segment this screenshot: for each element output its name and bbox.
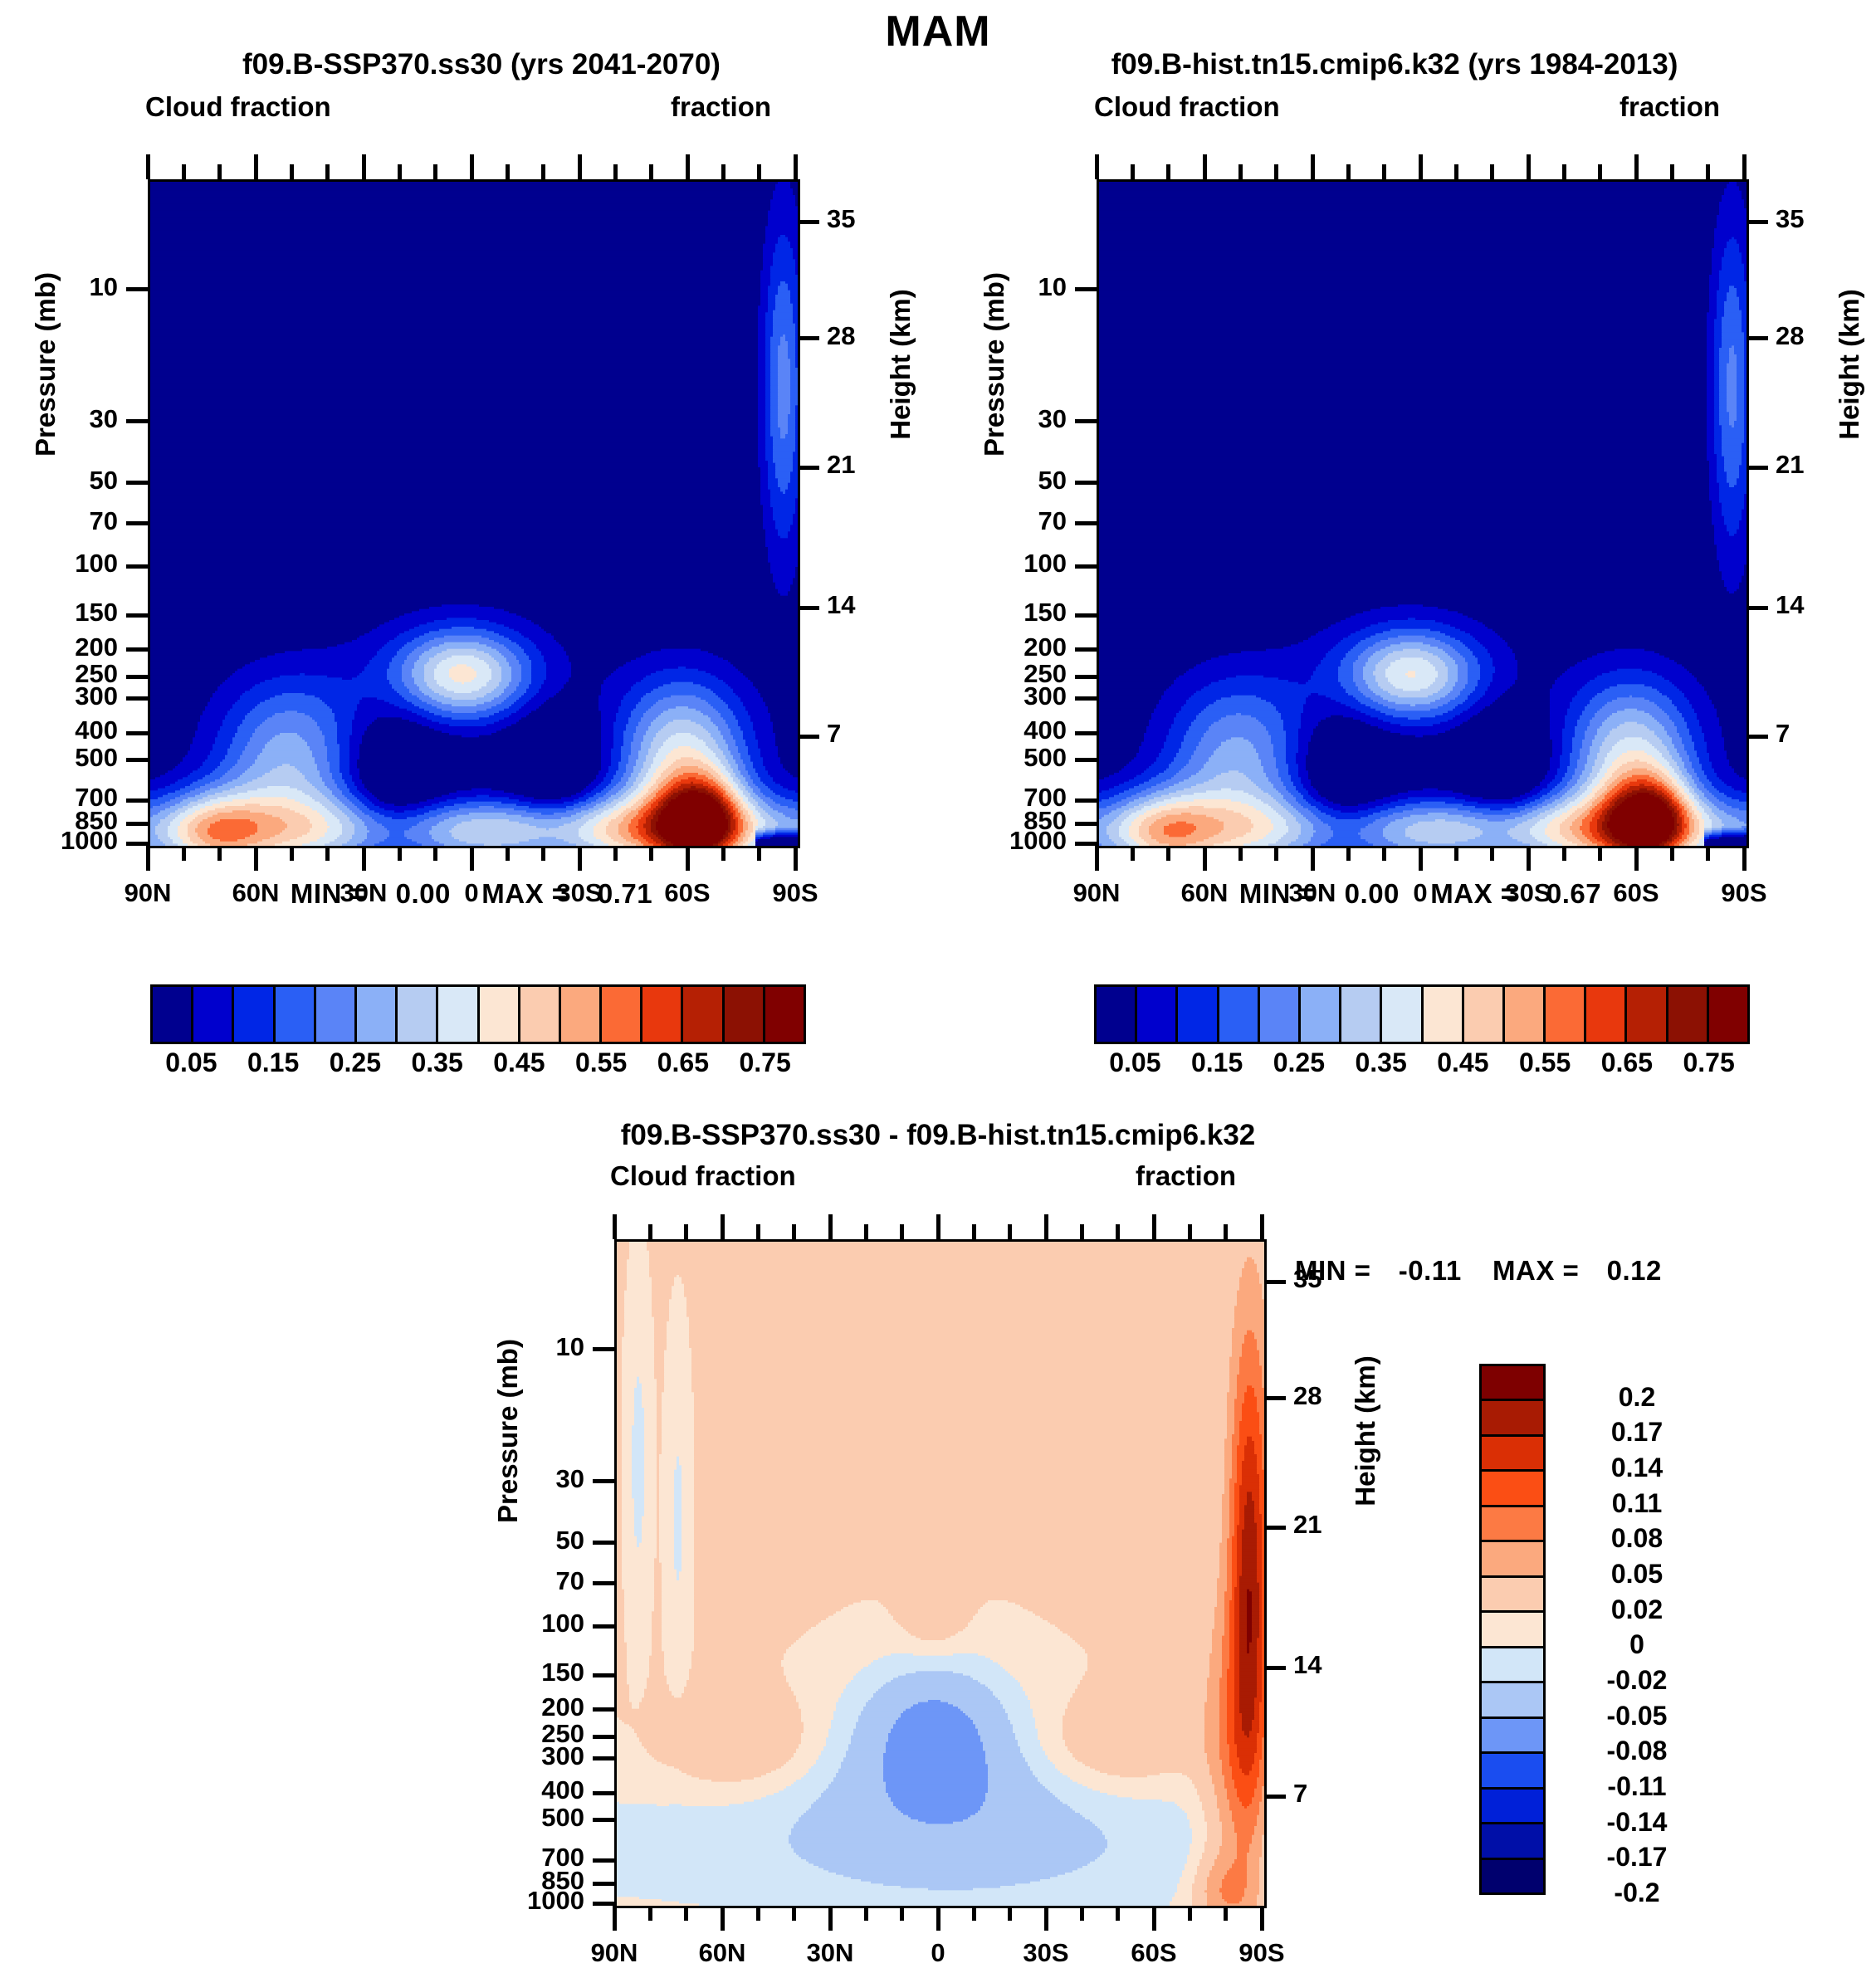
axis-tick: [1382, 164, 1386, 179]
axis-tick-label: 28: [827, 321, 901, 351]
axis-tick: [398, 164, 402, 179]
colorbar-tick-label: -0.17: [1554, 1842, 1720, 1873]
axis-tick: [126, 419, 148, 423]
axis-tick: [126, 842, 148, 846]
axis-tick: [613, 1906, 617, 1931]
axis-tick: [972, 1906, 976, 1921]
axis-tick: [686, 846, 690, 871]
axis-tick: [1075, 287, 1097, 291]
axis-tick: [1116, 1224, 1120, 1239]
colorbar-swatch: [1482, 1472, 1543, 1507]
colorbar-swatch: [398, 987, 438, 1042]
axis-tick: [794, 846, 798, 871]
axis-tick-label: 60N: [193, 878, 318, 908]
axis-tick: [126, 696, 148, 701]
colorbar-swatch: [642, 987, 683, 1042]
colorbar-tick-label: 0.2: [1554, 1382, 1720, 1413]
axis-tick: [1131, 846, 1135, 861]
colorbar-swatch: [234, 987, 275, 1042]
colorbar-swatch: [1482, 1366, 1543, 1401]
colorbar-swatch: [1301, 987, 1341, 1042]
axis-tick-label: 30N: [768, 1938, 892, 1968]
axis-tick: [1264, 1795, 1286, 1799]
panel-top-left-colorbar-labels: 0.050.150.250.350.450.550.650.75: [150, 1047, 806, 1086]
axis-tick: [649, 846, 653, 861]
axis-tick-label: 14: [1776, 590, 1850, 620]
axis-tick-label: 1000: [0, 826, 118, 856]
colorbar-swatch: [1482, 1824, 1543, 1859]
axis-tick-label: 7: [1293, 1779, 1368, 1809]
axis-tick-label: 14: [827, 590, 901, 620]
axis-tick: [1747, 336, 1768, 340]
axis-tick: [1152, 1214, 1156, 1239]
colorbar-tick-label: 0: [1554, 1629, 1720, 1660]
axis-tick: [1152, 1906, 1156, 1931]
panel-bottom-diff-title: f09.B-SSP370.ss30 - f09.B-hist.tn15.cmip…: [481, 1119, 1395, 1152]
colorbar-swatch: [1482, 1754, 1543, 1789]
axis-tick: [1527, 154, 1531, 179]
axis-tick-label: 30S: [1466, 878, 1590, 908]
axis-tick: [578, 846, 582, 871]
colorbar-swatch: [1260, 987, 1301, 1042]
axis-tick-label: 100: [0, 549, 118, 579]
colorbar-swatch: [1482, 1578, 1543, 1613]
axis-tick-label: 60N: [1142, 878, 1267, 908]
axis-tick-label: 14: [1293, 1650, 1368, 1680]
axis-tick: [1075, 842, 1097, 846]
axis-tick: [1527, 846, 1531, 871]
axis-tick: [613, 164, 618, 179]
axis-tick: [1116, 1906, 1120, 1921]
axis-tick-label: 30S: [517, 878, 642, 908]
colorbar-swatch: [438, 987, 479, 1042]
axis-tick-label: 10: [460, 1332, 584, 1362]
panel-top-right-title: f09.B-hist.tn15.cmip6.k32 (yrs 1984-2013…: [980, 48, 1810, 81]
colorbar-swatch: [520, 987, 561, 1042]
axis-tick: [182, 164, 186, 179]
colorbar-swatch: [765, 987, 804, 1042]
axis-tick: [126, 647, 148, 652]
colorbar-swatch: [1482, 1507, 1543, 1542]
axis-tick: [593, 1735, 614, 1739]
axis-tick-label: 90S: [1682, 878, 1806, 908]
colorbar-swatch: [316, 987, 357, 1042]
axis-tick: [1747, 466, 1768, 470]
axis-tick-label: 90S: [733, 878, 857, 908]
axis-tick: [1044, 1906, 1048, 1931]
axis-tick: [593, 1347, 614, 1351]
axis-tick: [864, 1906, 868, 1921]
colorbar-swatch: [725, 987, 765, 1042]
axis-tick-label: 500: [942, 743, 1067, 773]
axis-tick: [126, 613, 148, 618]
axis-tick: [1044, 1214, 1048, 1239]
axis-tick: [1260, 1906, 1264, 1931]
colorbar-swatch: [1482, 1790, 1543, 1824]
axis-tick: [721, 164, 725, 179]
colorbar-tick-label: 0.75: [707, 1047, 823, 1078]
panel-top-right-units-label: fraction: [1620, 91, 1720, 123]
axis-tick: [254, 846, 258, 871]
axis-tick-label: 30S: [984, 1938, 1108, 1968]
colorbar-swatch: [1586, 987, 1627, 1042]
axis-tick: [593, 1581, 614, 1585]
axis-tick: [1075, 696, 1097, 701]
colorbar-swatch: [683, 987, 724, 1042]
axis-tick: [1080, 1224, 1084, 1239]
colorbar-tick-label: 0.17: [1554, 1417, 1720, 1448]
axis-tick: [1311, 154, 1315, 179]
axis-tick-label: 90S: [1199, 1938, 1324, 1968]
colorbar-swatch: [1482, 1860, 1543, 1892]
axis-tick-label: 50: [0, 466, 118, 496]
axis-tick: [1454, 846, 1458, 861]
axis-tick-label: 0: [876, 1938, 1000, 1968]
axis-tick-label: 150: [0, 598, 118, 628]
axis-tick: [593, 1756, 614, 1760]
axis-tick: [470, 154, 474, 179]
axis-tick-label: 100: [942, 549, 1067, 579]
axis-tick-label: 35: [1776, 204, 1850, 234]
axis-tick-label: 60S: [625, 878, 750, 908]
axis-tick: [362, 154, 366, 179]
axis-tick: [217, 164, 222, 179]
axis-tick: [593, 1479, 614, 1483]
axis-tick: [433, 846, 437, 861]
axis-tick: [126, 675, 148, 679]
axis-tick: [1075, 798, 1097, 803]
axis-tick: [1490, 164, 1494, 179]
axis-tick-label: 400: [460, 1775, 584, 1805]
axis-tick-label: 100: [460, 1609, 584, 1638]
panel-bottom-diff-plot: [614, 1239, 1267, 1908]
panel-bottom-diff-max-value: 0.12: [1607, 1255, 1662, 1286]
axis-tick: [1747, 220, 1768, 224]
axis-tick: [1075, 731, 1097, 735]
panel-top-left-contour-field: [150, 182, 798, 846]
axis-tick-label: 7: [827, 719, 901, 749]
axis-tick: [864, 1224, 868, 1239]
axis-tick: [506, 164, 510, 179]
axis-tick: [593, 1902, 614, 1906]
axis-tick: [593, 1791, 614, 1795]
colorbar-swatch: [561, 987, 602, 1042]
axis-tick: [798, 220, 819, 224]
axis-tick: [1562, 846, 1566, 861]
axis-tick: [290, 846, 294, 861]
axis-tick: [1264, 1280, 1286, 1284]
colorbar-swatch: [153, 987, 193, 1042]
axis-tick: [1598, 846, 1602, 861]
axis-tick-label: 90N: [552, 1938, 677, 1968]
axis-tick: [756, 1906, 760, 1921]
colorbar-swatch: [1464, 987, 1505, 1042]
colorbar-tick-label: -0.2: [1554, 1878, 1720, 1908]
colorbar-swatch: [357, 987, 398, 1042]
axis-tick: [1075, 675, 1097, 679]
panel-top-right-variable-label: Cloud fraction: [1094, 91, 1280, 123]
axis-tick-label: 35: [827, 204, 901, 234]
axis-tick-label: 150: [942, 598, 1067, 628]
axis-tick: [1188, 1224, 1192, 1239]
axis-tick: [648, 1906, 652, 1921]
colorbar-tick-label: 0.02: [1554, 1594, 1720, 1625]
axis-tick: [721, 1906, 725, 1931]
axis-tick: [900, 1906, 904, 1921]
axis-tick: [362, 846, 366, 871]
axis-tick: [1346, 846, 1351, 861]
axis-tick: [593, 1673, 614, 1677]
axis-tick-label: 1000: [942, 826, 1067, 856]
axis-tick-label: 60S: [1092, 1938, 1216, 1968]
axis-tick: [1075, 521, 1097, 525]
axis-tick: [1166, 846, 1170, 861]
axis-tick-label: 30: [942, 404, 1067, 434]
axis-tick: [721, 1214, 725, 1239]
axis-tick: [1419, 846, 1423, 871]
axis-tick: [1419, 154, 1423, 179]
axis-tick: [798, 735, 819, 739]
panel-bottom-diff-units-label: fraction: [1136, 1160, 1236, 1192]
axis-tick: [541, 164, 545, 179]
axis-tick: [721, 846, 725, 861]
colorbar-swatch: [276, 987, 316, 1042]
axis-tick-label: 300: [942, 681, 1067, 711]
axis-tick: [613, 846, 618, 861]
axis-tick-label: 300: [460, 1741, 584, 1771]
panel-top-left-title: f09.B-SSP370.ss30 (yrs 2041-2070): [66, 48, 896, 81]
axis-tick: [1274, 846, 1278, 861]
axis-tick: [1454, 164, 1458, 179]
axis-tick: [126, 481, 148, 485]
axis-tick: [1203, 154, 1207, 179]
axis-tick-label: 200: [0, 632, 118, 662]
axis-tick: [1742, 154, 1747, 179]
axis-tick-label: 0: [409, 878, 534, 908]
axis-tick: [792, 1906, 796, 1921]
axis-tick: [1075, 613, 1097, 618]
colorbar-tick-label: 0.14: [1554, 1453, 1720, 1483]
axis-tick: [126, 287, 148, 291]
axis-tick: [217, 846, 222, 861]
axis-tick: [126, 822, 148, 826]
axis-tick-label: 7: [1776, 719, 1850, 749]
axis-tick-label: 60N: [660, 1938, 784, 1968]
axis-tick: [1670, 164, 1674, 179]
axis-tick: [1075, 822, 1097, 826]
axis-tick: [1311, 846, 1315, 871]
colorbar-swatch: [1424, 987, 1464, 1042]
colorbar-swatch: [1709, 987, 1747, 1042]
axis-tick: [126, 564, 148, 569]
colorbar-tick-label: 0.08: [1554, 1523, 1720, 1554]
axis-tick-label: 70: [460, 1566, 584, 1596]
axis-tick: [649, 164, 653, 179]
panel-bottom-diff-min-value: -0.11: [1399, 1255, 1462, 1286]
axis-tick: [506, 846, 510, 861]
colorbar-swatch: [1482, 1613, 1543, 1648]
axis-tick: [1742, 846, 1747, 871]
panel-top-right-plot: [1097, 179, 1749, 848]
colorbar-swatch: [1482, 1719, 1543, 1754]
axis-tick: [936, 1214, 940, 1239]
axis-tick: [398, 846, 402, 861]
axis-tick-label: 30: [0, 404, 118, 434]
axis-tick-label: 150: [460, 1658, 584, 1687]
axis-tick: [794, 154, 798, 179]
axis-tick: [470, 846, 474, 871]
panel-top-left-plot: [148, 179, 800, 848]
axis-tick: [900, 1224, 904, 1239]
colorbar-swatch: [1482, 1401, 1543, 1436]
axis-tick: [1008, 1224, 1012, 1239]
axis-tick: [828, 1214, 833, 1239]
axis-tick: [593, 1541, 614, 1545]
colorbar-tick-label: -0.11: [1554, 1771, 1720, 1802]
colorbar-tick-label: 0.05: [1554, 1559, 1720, 1590]
colorbar-swatch: [1097, 987, 1137, 1042]
axis-tick: [1562, 164, 1566, 179]
panel-bottom-diff-max-label: MAX =: [1492, 1255, 1579, 1286]
axis-tick: [1188, 1906, 1192, 1921]
axis-tick: [1080, 1906, 1084, 1921]
axis-tick: [325, 846, 330, 861]
axis-tick-label: 30N: [1250, 878, 1375, 908]
axis-tick-label: 21: [1776, 450, 1850, 480]
axis-tick: [1095, 846, 1099, 871]
axis-tick: [1075, 481, 1097, 485]
panel-bottom-diff-variable-label: Cloud fraction: [610, 1160, 796, 1192]
axis-tick: [684, 1224, 688, 1239]
axis-tick: [126, 521, 148, 525]
axis-tick: [1706, 846, 1710, 861]
axis-tick: [1264, 1526, 1286, 1530]
colorbar-swatch: [1668, 987, 1709, 1042]
axis-tick: [1008, 1906, 1012, 1921]
axis-tick-label: 21: [1293, 1510, 1368, 1540]
colorbar-swatch: [602, 987, 642, 1042]
axis-tick: [1634, 846, 1639, 871]
axis-tick-label: 10: [0, 272, 118, 302]
axis-tick-label: 90N: [1034, 878, 1159, 908]
axis-tick: [1075, 647, 1097, 652]
axis-tick: [541, 846, 545, 861]
colorbar-swatch: [1482, 1437, 1543, 1472]
axis-tick: [686, 154, 690, 179]
colorbar-swatch: [1137, 987, 1178, 1042]
axis-tick: [1095, 154, 1099, 179]
colorbar-tick-label: -0.08: [1554, 1736, 1720, 1766]
axis-tick-label: 28: [1293, 1381, 1368, 1411]
axis-tick: [593, 1858, 614, 1863]
colorbar-tick-label: -0.14: [1554, 1807, 1720, 1838]
axis-tick: [1264, 1666, 1286, 1670]
axis-tick: [798, 336, 819, 340]
axis-tick: [1075, 564, 1097, 569]
axis-tick-label: 400: [0, 715, 118, 745]
axis-tick: [757, 846, 761, 861]
colorbar-tick-label: -0.05: [1554, 1701, 1720, 1731]
axis-tick: [1224, 1224, 1228, 1239]
axis-tick: [1706, 164, 1710, 179]
axis-tick-label: 90N: [85, 878, 210, 908]
axis-tick: [1382, 846, 1386, 861]
colorbar-swatch: [1382, 987, 1423, 1042]
axis-tick-label: 1000: [460, 1886, 584, 1916]
colorbar-swatch: [1505, 987, 1546, 1042]
colorbar-tick-label: 0.75: [1651, 1047, 1767, 1078]
panel-bottom-diff-contour-field: [617, 1242, 1264, 1906]
axis-tick-label: 300: [0, 681, 118, 711]
axis-tick: [1598, 164, 1602, 179]
panel-bottom-diff-colorbar: [1479, 1364, 1546, 1895]
axis-tick: [254, 154, 258, 179]
axis-tick: [648, 1224, 652, 1239]
axis-tick: [325, 164, 330, 179]
axis-tick: [756, 1224, 760, 1239]
panel-top-right-contour-field: [1099, 182, 1747, 846]
axis-tick-label: 30N: [301, 878, 426, 908]
axis-tick: [182, 846, 186, 861]
axis-tick: [1346, 164, 1351, 179]
axis-tick: [798, 606, 819, 610]
axis-tick-label: 21: [827, 450, 901, 480]
panel-top-left-units-label: fraction: [671, 91, 771, 123]
colorbar-swatch: [1546, 987, 1586, 1042]
axis-tick: [1166, 164, 1170, 179]
axis-tick: [1260, 1214, 1264, 1239]
panel-top-right-colorbar-labels: 0.050.150.250.350.450.550.650.75: [1094, 1047, 1750, 1086]
axis-tick-label: 60S: [1574, 878, 1698, 908]
axis-tick-label: 28: [1776, 321, 1850, 351]
axis-tick: [1075, 758, 1097, 762]
panel-top-left-variable-label: Cloud fraction: [145, 91, 331, 123]
colorbar-swatch: [193, 987, 234, 1042]
axis-tick: [146, 846, 150, 871]
axis-tick: [1238, 846, 1243, 861]
colorbar-swatch: [1482, 1648, 1543, 1683]
axis-tick-label: 200: [460, 1692, 584, 1722]
axis-tick: [290, 164, 294, 179]
axis-tick: [146, 154, 150, 179]
axis-tick-label: 400: [942, 715, 1067, 745]
axis-tick-label: 10: [942, 272, 1067, 302]
axis-tick-label: 30: [460, 1464, 584, 1494]
axis-tick: [593, 1707, 614, 1712]
axis-tick: [613, 1214, 617, 1239]
panel-top-left-colorbar: [150, 984, 806, 1044]
axis-tick-label: 50: [460, 1526, 584, 1555]
axis-tick-label: 35: [1293, 1264, 1368, 1294]
axis-tick: [593, 1818, 614, 1822]
axis-tick: [1075, 419, 1097, 423]
axis-tick-label: 200: [942, 632, 1067, 662]
axis-tick: [1490, 846, 1494, 861]
axis-tick-label: 70: [942, 506, 1067, 536]
axis-tick: [684, 1906, 688, 1921]
axis-tick-label: 500: [460, 1803, 584, 1833]
colorbar-swatch: [1482, 1683, 1543, 1718]
axis-tick: [936, 1906, 940, 1931]
axis-tick: [1203, 846, 1207, 871]
colorbar-swatch: [1627, 987, 1668, 1042]
axis-tick: [1264, 1396, 1286, 1400]
axis-tick: [578, 154, 582, 179]
axis-tick: [1747, 735, 1768, 739]
axis-tick: [126, 758, 148, 762]
axis-tick: [593, 1882, 614, 1886]
colorbar-swatch: [1341, 987, 1382, 1042]
